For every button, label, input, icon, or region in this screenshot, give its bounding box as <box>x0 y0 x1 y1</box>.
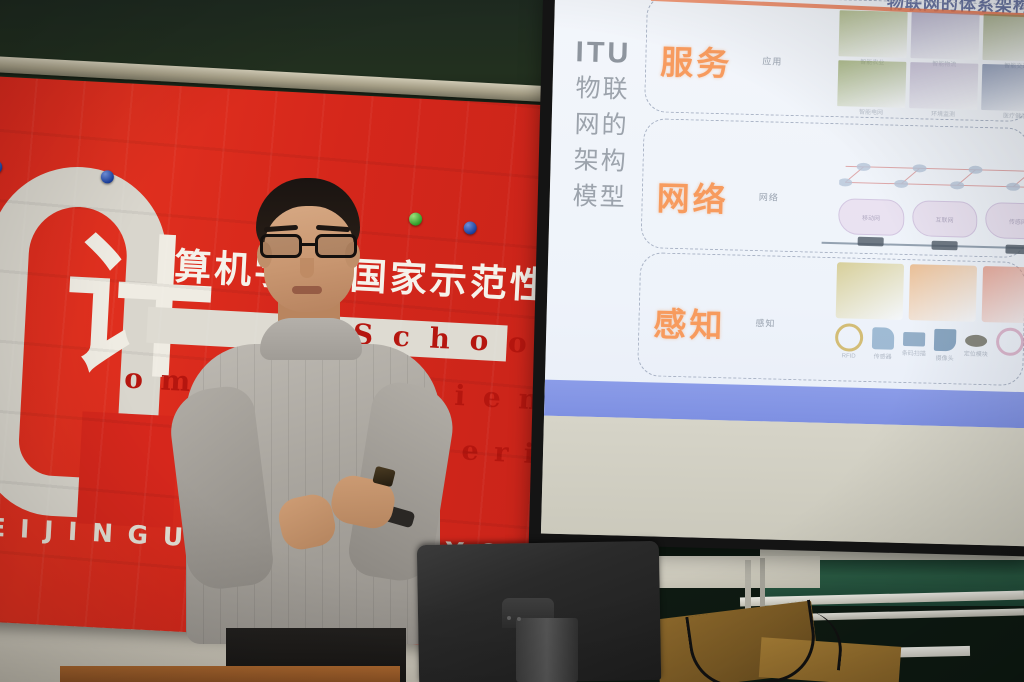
network-cloud-label-2: 互联网 <box>912 201 976 237</box>
sensor-icon-camera-4: 摄像头 <box>934 329 957 352</box>
glasses-bridge <box>302 243 315 246</box>
perception-illustration-1 <box>836 262 904 320</box>
router-1 <box>858 237 884 247</box>
monitor-screw-1 <box>507 616 511 620</box>
banner-magnet-5 <box>463 221 477 235</box>
network-cloud-label-1: 移动网 <box>839 199 903 235</box>
presenter-turtleneck-collar <box>260 318 362 360</box>
service-photo-caption-5: 智能电网 <box>837 106 905 117</box>
slide-left-line-1: 网的 <box>565 106 638 144</box>
layer-sublabel-perception: 感知 <box>755 316 775 330</box>
router-2 <box>931 241 957 251</box>
glasses-icon <box>260 234 360 258</box>
slide-layer-service: 服务 应用 智能农业智能物流智能交通工业生产智能电网环境监测医疗健康智能家居 <box>644 0 1024 122</box>
network-cloud-1: 移动网 <box>838 198 904 236</box>
screen-unprojected-area <box>541 416 1024 547</box>
layer-label-service: 服务 <box>660 36 733 86</box>
layer-label-perception: 感知 <box>653 297 726 347</box>
glasses-lens-left <box>260 234 302 258</box>
layer-label-network: 网络 <box>656 171 729 221</box>
banner-logo-c <box>0 162 171 521</box>
sensor-icon-scanner-3: 条码扫描 <box>903 332 925 347</box>
network-cloud-2: 互联网 <box>911 200 977 238</box>
lecture-room-photo: 计 算机学院 国家示范性软件学院 S c h o o l o o m p u t… <box>0 0 1024 682</box>
projection-screen: 物联网的体系架构 ITU 物联 网的 架构 模型 服务 应用 智能农业智能物流智… <box>541 0 1024 546</box>
banner-magnet-2 <box>101 170 115 184</box>
slide-canvas: 物联网的体系架构 ITU 物联 网的 架构 模型 服务 应用 智能农业智能物流智… <box>544 0 1024 428</box>
network-cloud-3: 传感网 <box>985 202 1024 240</box>
slide-left-line-2: 架构 <box>564 142 637 180</box>
service-photo-7: 医疗健康 <box>981 64 1024 112</box>
network-cloud-label-3: 传感网 <box>986 203 1024 239</box>
presenter-mouth <box>292 286 322 294</box>
service-photo-6: 环境监测 <box>909 62 978 110</box>
presenter-nose <box>300 258 314 278</box>
service-photo-2: 智能物流 <box>910 12 979 60</box>
service-photo-grid: 智能农业智能物流智能交通工业生产智能电网环境监测医疗健康智能家居 <box>837 10 1024 114</box>
sensor-icon-ring-6 <box>996 327 1024 356</box>
sensor-icon-tag-1: RFID <box>835 323 864 352</box>
sensor-caption-1: RFID <box>830 353 868 360</box>
desk <box>60 666 400 682</box>
sensor-icon-probe-2: 传感器 <box>872 327 895 350</box>
slide-left-line-0: 物联 <box>566 70 639 108</box>
slide-left-column: ITU 物联 网的 架构 模型 <box>563 34 640 216</box>
presenter <box>160 178 460 682</box>
perception-sensor-row: RFID传感器条码扫描摄像头定位模块智能卡 <box>835 320 1024 361</box>
perception-illustration-3 <box>982 266 1024 324</box>
layer-sublabel-network: 网络 <box>759 190 779 204</box>
banner-magnet-1 <box>0 160 3 174</box>
slide-layer-network: 网络 网络 <box>640 118 1024 258</box>
layer-sublabel-service: 应用 <box>762 54 782 68</box>
service-photo-5: 智能电网 <box>837 60 906 108</box>
sensor-icon-disc-5: 定位模块 <box>965 335 987 348</box>
perception-illustration-2 <box>909 264 977 322</box>
service-photo-3: 智能交通 <box>982 14 1024 62</box>
monitor-stand <box>516 618 578 682</box>
monitor-screw-2 <box>517 617 521 621</box>
slide-org-label: ITU <box>567 34 640 72</box>
perception-illustrations <box>836 262 1024 325</box>
slide-left-line-3: 模型 <box>563 178 636 216</box>
service-photo-caption-7: 医疗健康 <box>981 110 1024 121</box>
service-photo-1: 智能农业 <box>839 10 908 58</box>
slide-layer-perception: 感知 感知 RFID传感器条码扫描摄像头定位模块智能卡 <box>637 252 1024 386</box>
glasses-lens-right <box>315 234 357 258</box>
router-3 <box>1005 245 1024 255</box>
network-mesh-diagram <box>839 150 1024 203</box>
service-photo-caption-6: 环境监测 <box>909 108 977 119</box>
sensor-caption-5: 定位模块 <box>957 348 995 358</box>
